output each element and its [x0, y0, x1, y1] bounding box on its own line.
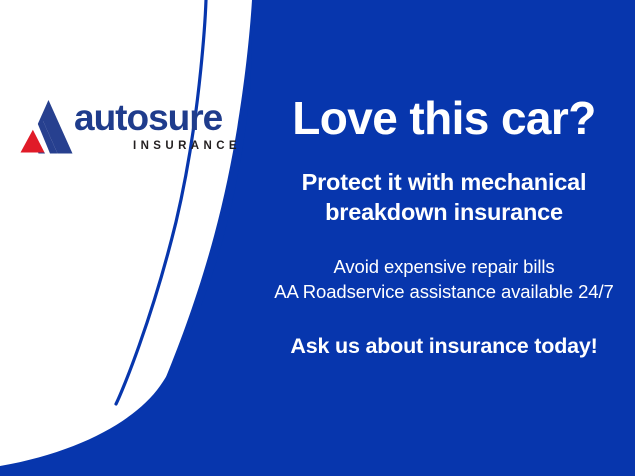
- brand-logo: autosure INSURANCE: [14, 96, 232, 166]
- subheadline-line-1: Protect it with mechanical: [262, 167, 626, 197]
- benefits-list: Avoid expensive repair bills AA Roadserv…: [262, 255, 626, 305]
- marketing-message: Love this car? Protect it with mechanica…: [262, 95, 626, 359]
- autosure-insurance-banner: autosure INSURANCE Love this car? Protec…: [0, 0, 635, 476]
- benefit-line-1: Avoid expensive repair bills: [262, 255, 626, 280]
- headline: Love this car?: [262, 95, 626, 141]
- autosure-a-logo-mark-icon: [14, 98, 76, 160]
- subheadline-line-2: breakdown insurance: [262, 197, 626, 227]
- subheadline: Protect it with mechanical breakdown ins…: [262, 167, 626, 227]
- brand-subtext: INSURANCE: [133, 140, 241, 152]
- autosure-wordmark: autosure: [74, 96, 234, 142]
- call-to-action: Ask us about insurance today!: [262, 334, 626, 359]
- autosure-wordmark-text: autosure: [74, 97, 223, 138]
- benefit-line-2: AA Roadservice assistance available 24/7: [262, 280, 626, 305]
